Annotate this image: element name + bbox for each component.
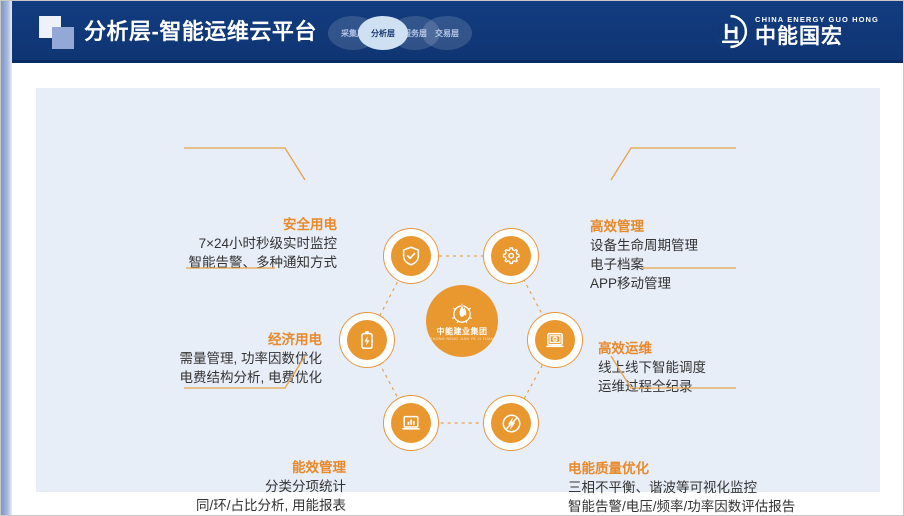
- node-economic-power[interactable]: [339, 312, 395, 368]
- block-line: 智能告警/电压/频率/功率因数评估报告: [568, 497, 880, 516]
- page-title: 分析层-智能运维云平台: [84, 16, 317, 48]
- block-title: 经济用电: [72, 331, 322, 349]
- block-title: 电能质量优化: [568, 460, 880, 478]
- circle-h-emblem-icon: [713, 14, 748, 49]
- block-line: 三相不平衡、谐波等可视化监控: [568, 478, 880, 497]
- content-panel: 安全用电 7×24小时秒级实时监控 智能告警、多种通知方式 经济用电 需量管理,…: [36, 88, 880, 492]
- gear-icon: [500, 245, 522, 267]
- hexagon-diagram: 中能建业集团 ZHONG NENG JIAN YE JI TUAN: [339, 228, 584, 453]
- block-line: APP移动管理: [590, 274, 880, 293]
- node-icon-bg: [535, 320, 575, 360]
- block-safe-power: 安全用电 7×24小时秒级实时监控 智能告警、多种通知方式: [82, 216, 337, 272]
- block-line: 线上线下智能调度: [598, 358, 880, 377]
- brand-logo: CHINA ENERGY GUO HONG 中能国宏: [713, 14, 879, 49]
- block-line: 电费结构分析, 电费优化: [72, 368, 322, 387]
- block-line: 分类分项统计: [92, 477, 346, 496]
- center-group-logo: 中能建业集团 ZHONG NENG JIAN YE JI TUAN: [426, 285, 498, 357]
- block-line: 设备生命周期管理: [590, 236, 880, 255]
- monitor-gear-icon: [544, 329, 566, 351]
- pill-analysis-layer-active[interactable]: 分析层: [358, 16, 408, 50]
- block-line: 运维过程全纪录: [598, 377, 880, 396]
- block-title: 安全用电: [82, 216, 337, 234]
- pill-label: 交易层: [435, 28, 459, 39]
- left-accent-bar: [1, 1, 12, 515]
- center-logo-chinese: 中能建业集团: [437, 327, 488, 337]
- node-efficient-management[interactable]: [483, 228, 539, 284]
- header-bar: 分析层-智能运维云平台 采集层 服务层 交易层 分析层: [12, 1, 903, 63]
- shield-check-icon: [400, 245, 422, 267]
- block-line: 智能告警、多种通知方式: [82, 253, 337, 272]
- squares-logo-icon: [39, 16, 79, 50]
- block-title: 高效运维: [598, 340, 880, 358]
- brand-chinese: 中能国宏: [755, 25, 879, 48]
- node-safe-power[interactable]: [383, 228, 439, 284]
- node-efficiency-management[interactable]: [383, 395, 439, 451]
- block-efficient-management: 高效管理 设备生命周期管理 电子档案 APP移动管理: [590, 218, 880, 293]
- block-title: 高效管理: [590, 218, 880, 236]
- node-icon-bg: [491, 403, 531, 443]
- bolt-circle-icon: [500, 412, 523, 435]
- block-line: 电子档案: [590, 255, 880, 274]
- node-efficient-operations[interactable]: [527, 312, 583, 368]
- pill-label: 分析层: [371, 28, 395, 39]
- node-icon-bg: [391, 403, 431, 443]
- block-power-quality: 电能质量优化 三相不平衡、谐波等可视化监控 智能告警/电压/频率/功率因数评估报…: [568, 460, 880, 516]
- block-efficient-operations: 高效运维 线上线下智能调度 运维过程全纪录: [598, 340, 880, 396]
- block-efficiency-management: 能效管理 分类分项统计 同/环/占比分析, 用能报表: [92, 459, 346, 515]
- block-line: 需量管理, 功率因数优化: [72, 349, 322, 368]
- block-economic-power: 经济用电 需量管理, 功率因数优化 电费结构分析, 电费优化: [72, 331, 322, 387]
- slide-root: 分析层-智能运维云平台 采集层 服务层 交易层 分析层: [0, 0, 904, 516]
- battery-bolt-icon: [356, 329, 378, 351]
- node-icon-bg: [347, 320, 387, 360]
- pill-trade-layer[interactable]: 交易层: [422, 16, 472, 50]
- block-line: 7×24小时秒级实时监控: [82, 234, 337, 253]
- flame-gear-icon: [449, 301, 475, 325]
- node-icon-bg: [391, 236, 431, 276]
- brand-text: CHINA ENERGY GUO HONG 中能国宏: [755, 15, 879, 48]
- layer-pill-group: 采集层 服务层 交易层 分析层: [328, 16, 480, 50]
- laptop-chart-icon: [400, 412, 422, 434]
- block-line: 同/环/占比分析, 用能报表: [92, 496, 346, 515]
- logo-square-blue: [52, 27, 74, 49]
- center-logo-pinyin: ZHONG NENG JIAN YE JI TUAN: [430, 337, 494, 342]
- node-power-quality[interactable]: [483, 395, 539, 451]
- node-icon-bg: [491, 236, 531, 276]
- header-bottom-band: [12, 60, 903, 63]
- brand-english: CHINA ENERGY GUO HONG: [755, 15, 879, 25]
- block-title: 能效管理: [92, 459, 346, 477]
